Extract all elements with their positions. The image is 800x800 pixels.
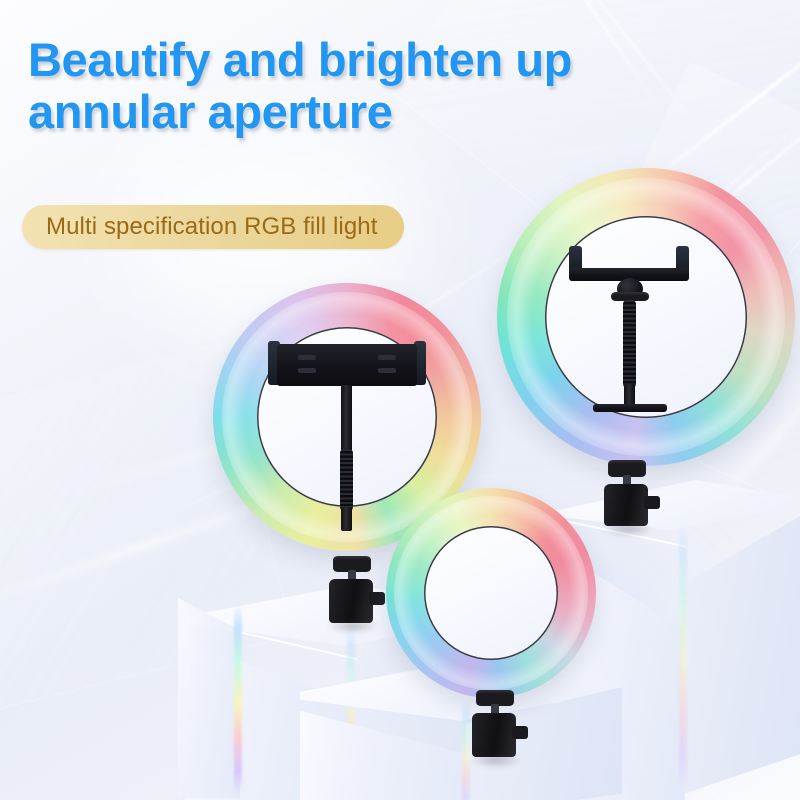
clamp-stem-medium: [341, 385, 352, 453]
pedestal-front-face: [178, 598, 240, 798]
ball-head-body: [329, 579, 373, 623]
subtitle-badge: Multi specification RGB fill light: [22, 205, 404, 249]
ball-head-body: [472, 713, 516, 757]
clamp-slot: [378, 355, 396, 360]
arm-foot-plate-large: [593, 404, 667, 412]
tripod-ball-head-medium[interactable]: [323, 556, 381, 626]
gooseneck-arm-medium: [340, 449, 353, 511]
ring-light-large[interactable]: [497, 168, 795, 466]
mount-reflection: [602, 522, 654, 536]
clamp-slot: [298, 355, 316, 360]
subtitle-text: Multi specification RGB fill light: [46, 213, 378, 241]
ball-head-lock-knob[interactable]: [644, 496, 660, 509]
mount-reflection: [470, 753, 522, 767]
clamp-slot: [298, 368, 316, 373]
arm-base-medium: [341, 507, 352, 531]
ring-small-inner-aperture: [424, 526, 558, 660]
prism-edge: [234, 604, 242, 794]
ball-head-body: [604, 484, 648, 526]
tripod-ball-head-small[interactable]: [466, 690, 524, 760]
ring-light-small[interactable]: [386, 488, 596, 698]
gooseneck-arm-large: [623, 300, 636, 388]
mount-reflection: [327, 619, 379, 633]
headline-line-1: Beautify and brighten up: [28, 34, 668, 86]
display-pedestal-far-left: [178, 598, 338, 798]
clamp-slot: [378, 368, 396, 373]
pedestal-side-face: [683, 494, 800, 794]
tripod-ball-head-large[interactable]: [598, 460, 656, 528]
clamp-plate: [277, 344, 417, 386]
ball-head-lock-knob[interactable]: [512, 726, 528, 739]
page-headline: Beautify and brighten up annular apertur…: [28, 34, 668, 138]
phone-clamp-medium[interactable]: [268, 341, 426, 389]
product-banner: Beautify and brighten up annular apertur…: [0, 0, 800, 800]
ball-head-lock-knob[interactable]: [369, 592, 385, 605]
headline-line-2: annular aperture: [28, 86, 668, 138]
prism-edge: [679, 520, 687, 790]
